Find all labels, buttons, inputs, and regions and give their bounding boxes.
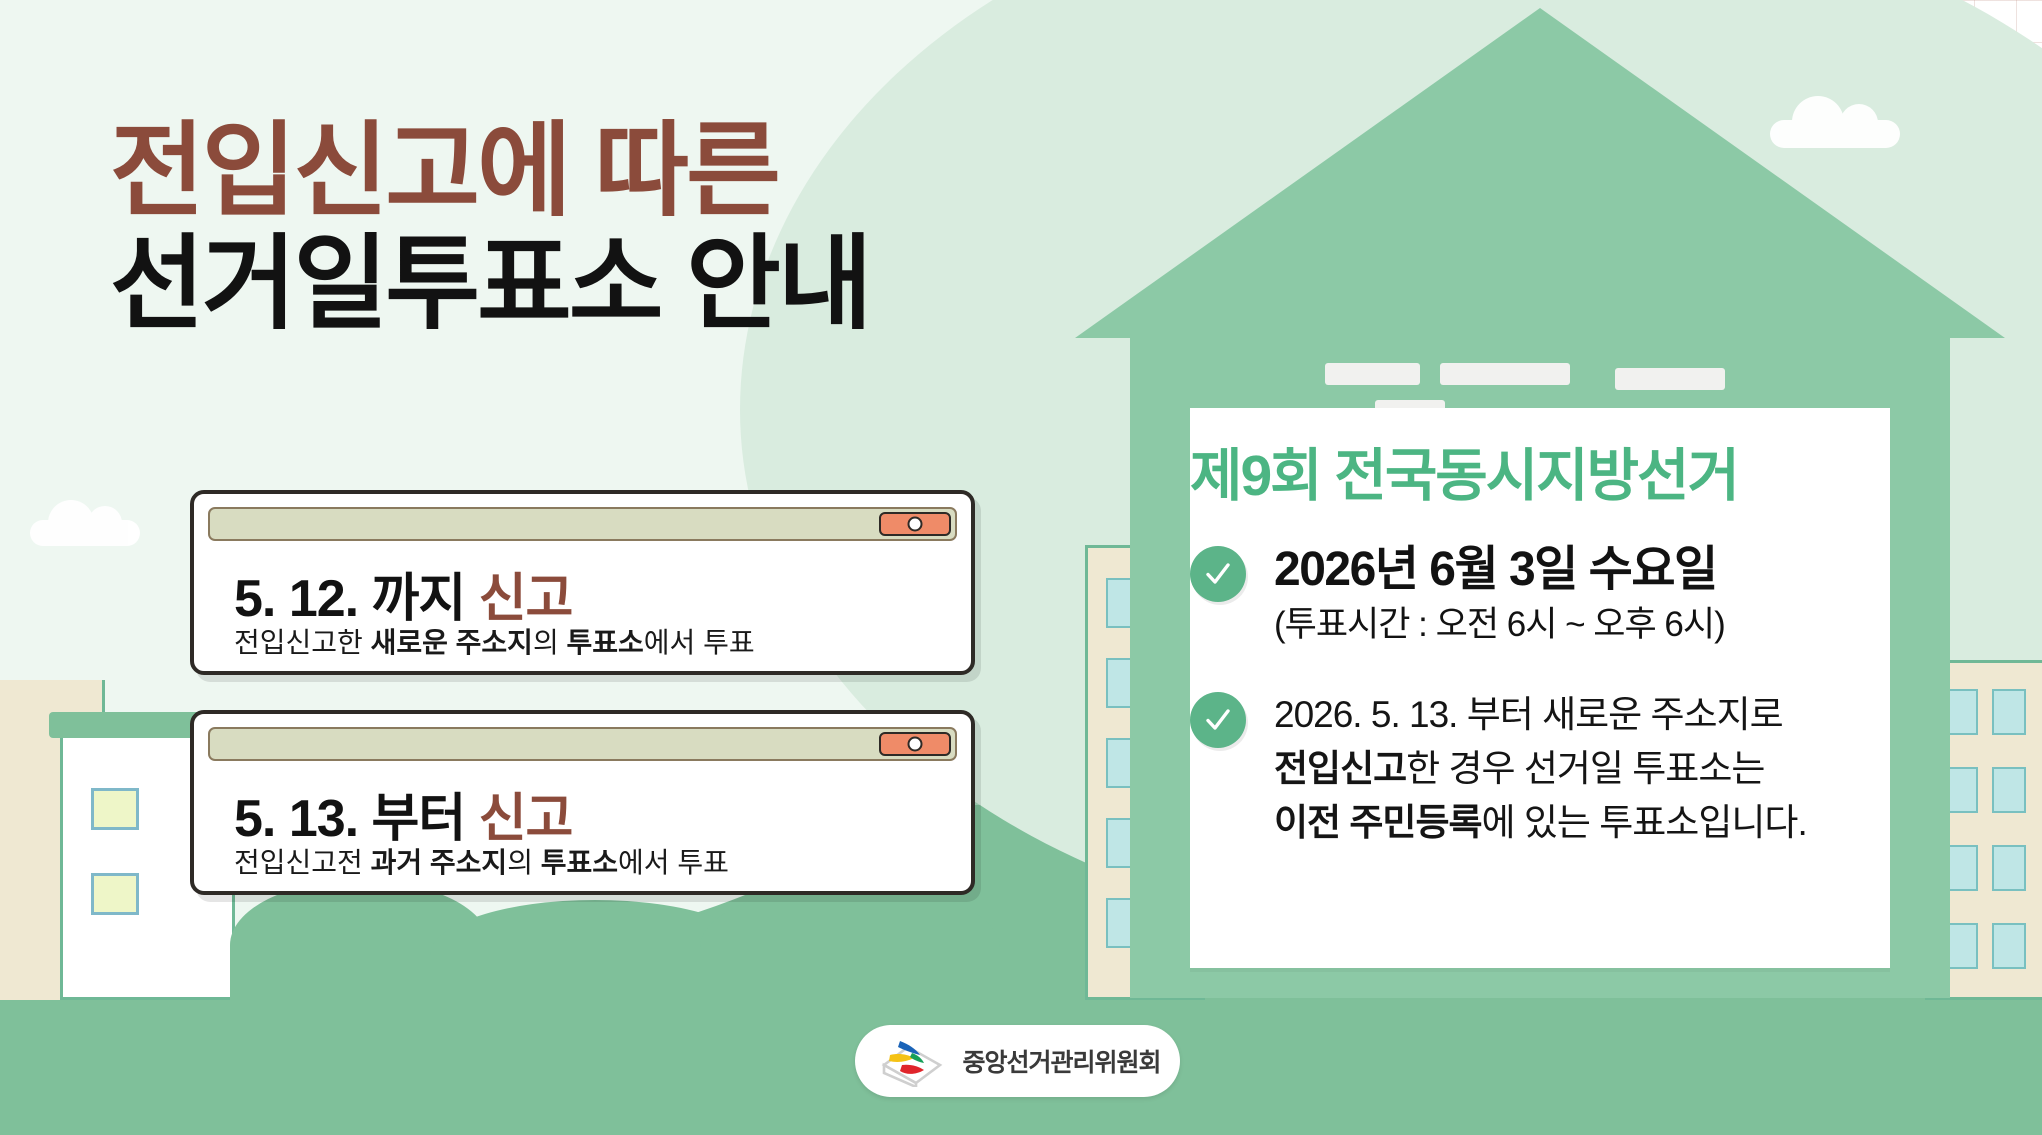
card-main-prefix: 5. 12. 까지 (234, 570, 479, 628)
card-main-line: 5. 13. 부터 신고 (234, 776, 572, 851)
card-main-line: 5. 12. 까지 신고 (234, 556, 572, 631)
card-sub-line: 전입신고전 과거 주소지의 투표소에서 투표 (234, 841, 729, 881)
nec-bird-ballot-logo-icon (874, 1035, 948, 1087)
brick-tile (1325, 363, 1420, 385)
voting-hours-text: (투표시간 : 오전 6시 ~ 오후 6시) (1274, 604, 1960, 647)
card-sub-bold-1: 과거 주소지 (371, 847, 508, 878)
moved-notice-line-2: 전입신고한 경우 선거일 투표소는 (1274, 742, 1960, 796)
card-titlebar (208, 727, 957, 761)
bullet-moved-after-0513: 2026. 5. 13. 부터 새로운 주소지로 전입신고한 경우 선거일 투표… (1190, 688, 1960, 849)
card-sub-tail: 에서 투표 (644, 627, 755, 658)
window-control-dot-icon[interactable] (879, 732, 951, 756)
card-sub-mid: 의 (533, 627, 567, 658)
card-sub-bold-2: 투표소 (566, 627, 643, 658)
moved-notice-line-3: 이전 주민등록에 있는 투표소입니다. (1274, 796, 1960, 850)
moved-line2-bold: 전입신고 (1274, 748, 1406, 789)
election-date-text: 2026년 6월 3일 수요일 (1274, 542, 1960, 598)
poster-canvas: 전입신고에 따른 선거일투표소 안내 5. 12. 까지 신고 전입신고한 새로… (0, 0, 2042, 1135)
headline-line-1: 전입신고에 따른 (110, 118, 1050, 223)
check-circle-icon (1190, 546, 1246, 602)
card-main-accent: 신고 (479, 570, 573, 628)
brick-tile (1440, 363, 1570, 385)
page-title: 전입신고에 따른 선거일투표소 안내 (110, 118, 1050, 336)
headline-line-2: 선거일투표소 안내 (110, 231, 1050, 336)
card-titlebar (208, 507, 957, 541)
window-control-dot-icon[interactable] (879, 512, 951, 536)
card-sub-bold-1: 새로운 주소지 (371, 627, 533, 658)
card-sub-mid: 의 (507, 847, 541, 878)
nec-footer-badge[interactable]: 중앙선거관리위원회 (855, 1025, 1180, 1097)
card-deadline-0513[interactable]: 5. 13. 부터 신고 전입신고전 과거 주소지의 투표소에서 투표 (190, 710, 975, 895)
house-roof (1075, 8, 2005, 338)
card-main-prefix: 5. 13. 부터 (234, 790, 479, 848)
card-sub-bold-2: 투표소 (541, 847, 618, 878)
card-sub-line: 전입신고한 새로운 주소지의 투표소에서 투표 (234, 621, 755, 661)
moved-line3-bold: 이전 주민등록 (1274, 802, 1482, 843)
card-sub-lead: 전입신고전 (234, 847, 371, 878)
check-circle-icon (1190, 692, 1246, 748)
moved-address-part: 새로운 주소지로 (1542, 694, 1783, 735)
moved-notice-line-1: 2026. 5. 13. 부터 새로운 주소지로 (1274, 688, 1960, 742)
card-sub-lead: 전입신고한 (234, 627, 371, 658)
brick-tile (1615, 368, 1725, 390)
election-name-heading: 제9회 전국동시지방선거 (1190, 430, 1960, 512)
moved-line3-rest: 에 있는 투표소입니다. (1482, 802, 1807, 843)
card-main-accent: 신고 (479, 790, 573, 848)
election-info-panel: 제9회 전국동시지방선거 2026년 6월 3일 수요일 (투표시간 : 오전 … (1190, 430, 1960, 891)
moved-line2-rest: 한 경우 선거일 투표소는 (1406, 748, 1764, 789)
card-sub-tail: 에서 투표 (618, 847, 729, 878)
organization-name: 중앙선거관리위원회 (962, 1043, 1160, 1079)
bullet-election-date: 2026년 6월 3일 수요일 (투표시간 : 오전 6시 ~ 오후 6시) (1190, 542, 1960, 646)
moved-date-part: 2026. 5. 13. 부터 (1274, 694, 1542, 735)
left-column: 전입신고에 따른 선거일투표소 안내 5. 12. 까지 신고 전입신고한 새로… (0, 0, 1080, 1135)
card-deadline-0512[interactable]: 5. 12. 까지 신고 전입신고한 새로운 주소지의 투표소에서 투표 (190, 490, 975, 675)
